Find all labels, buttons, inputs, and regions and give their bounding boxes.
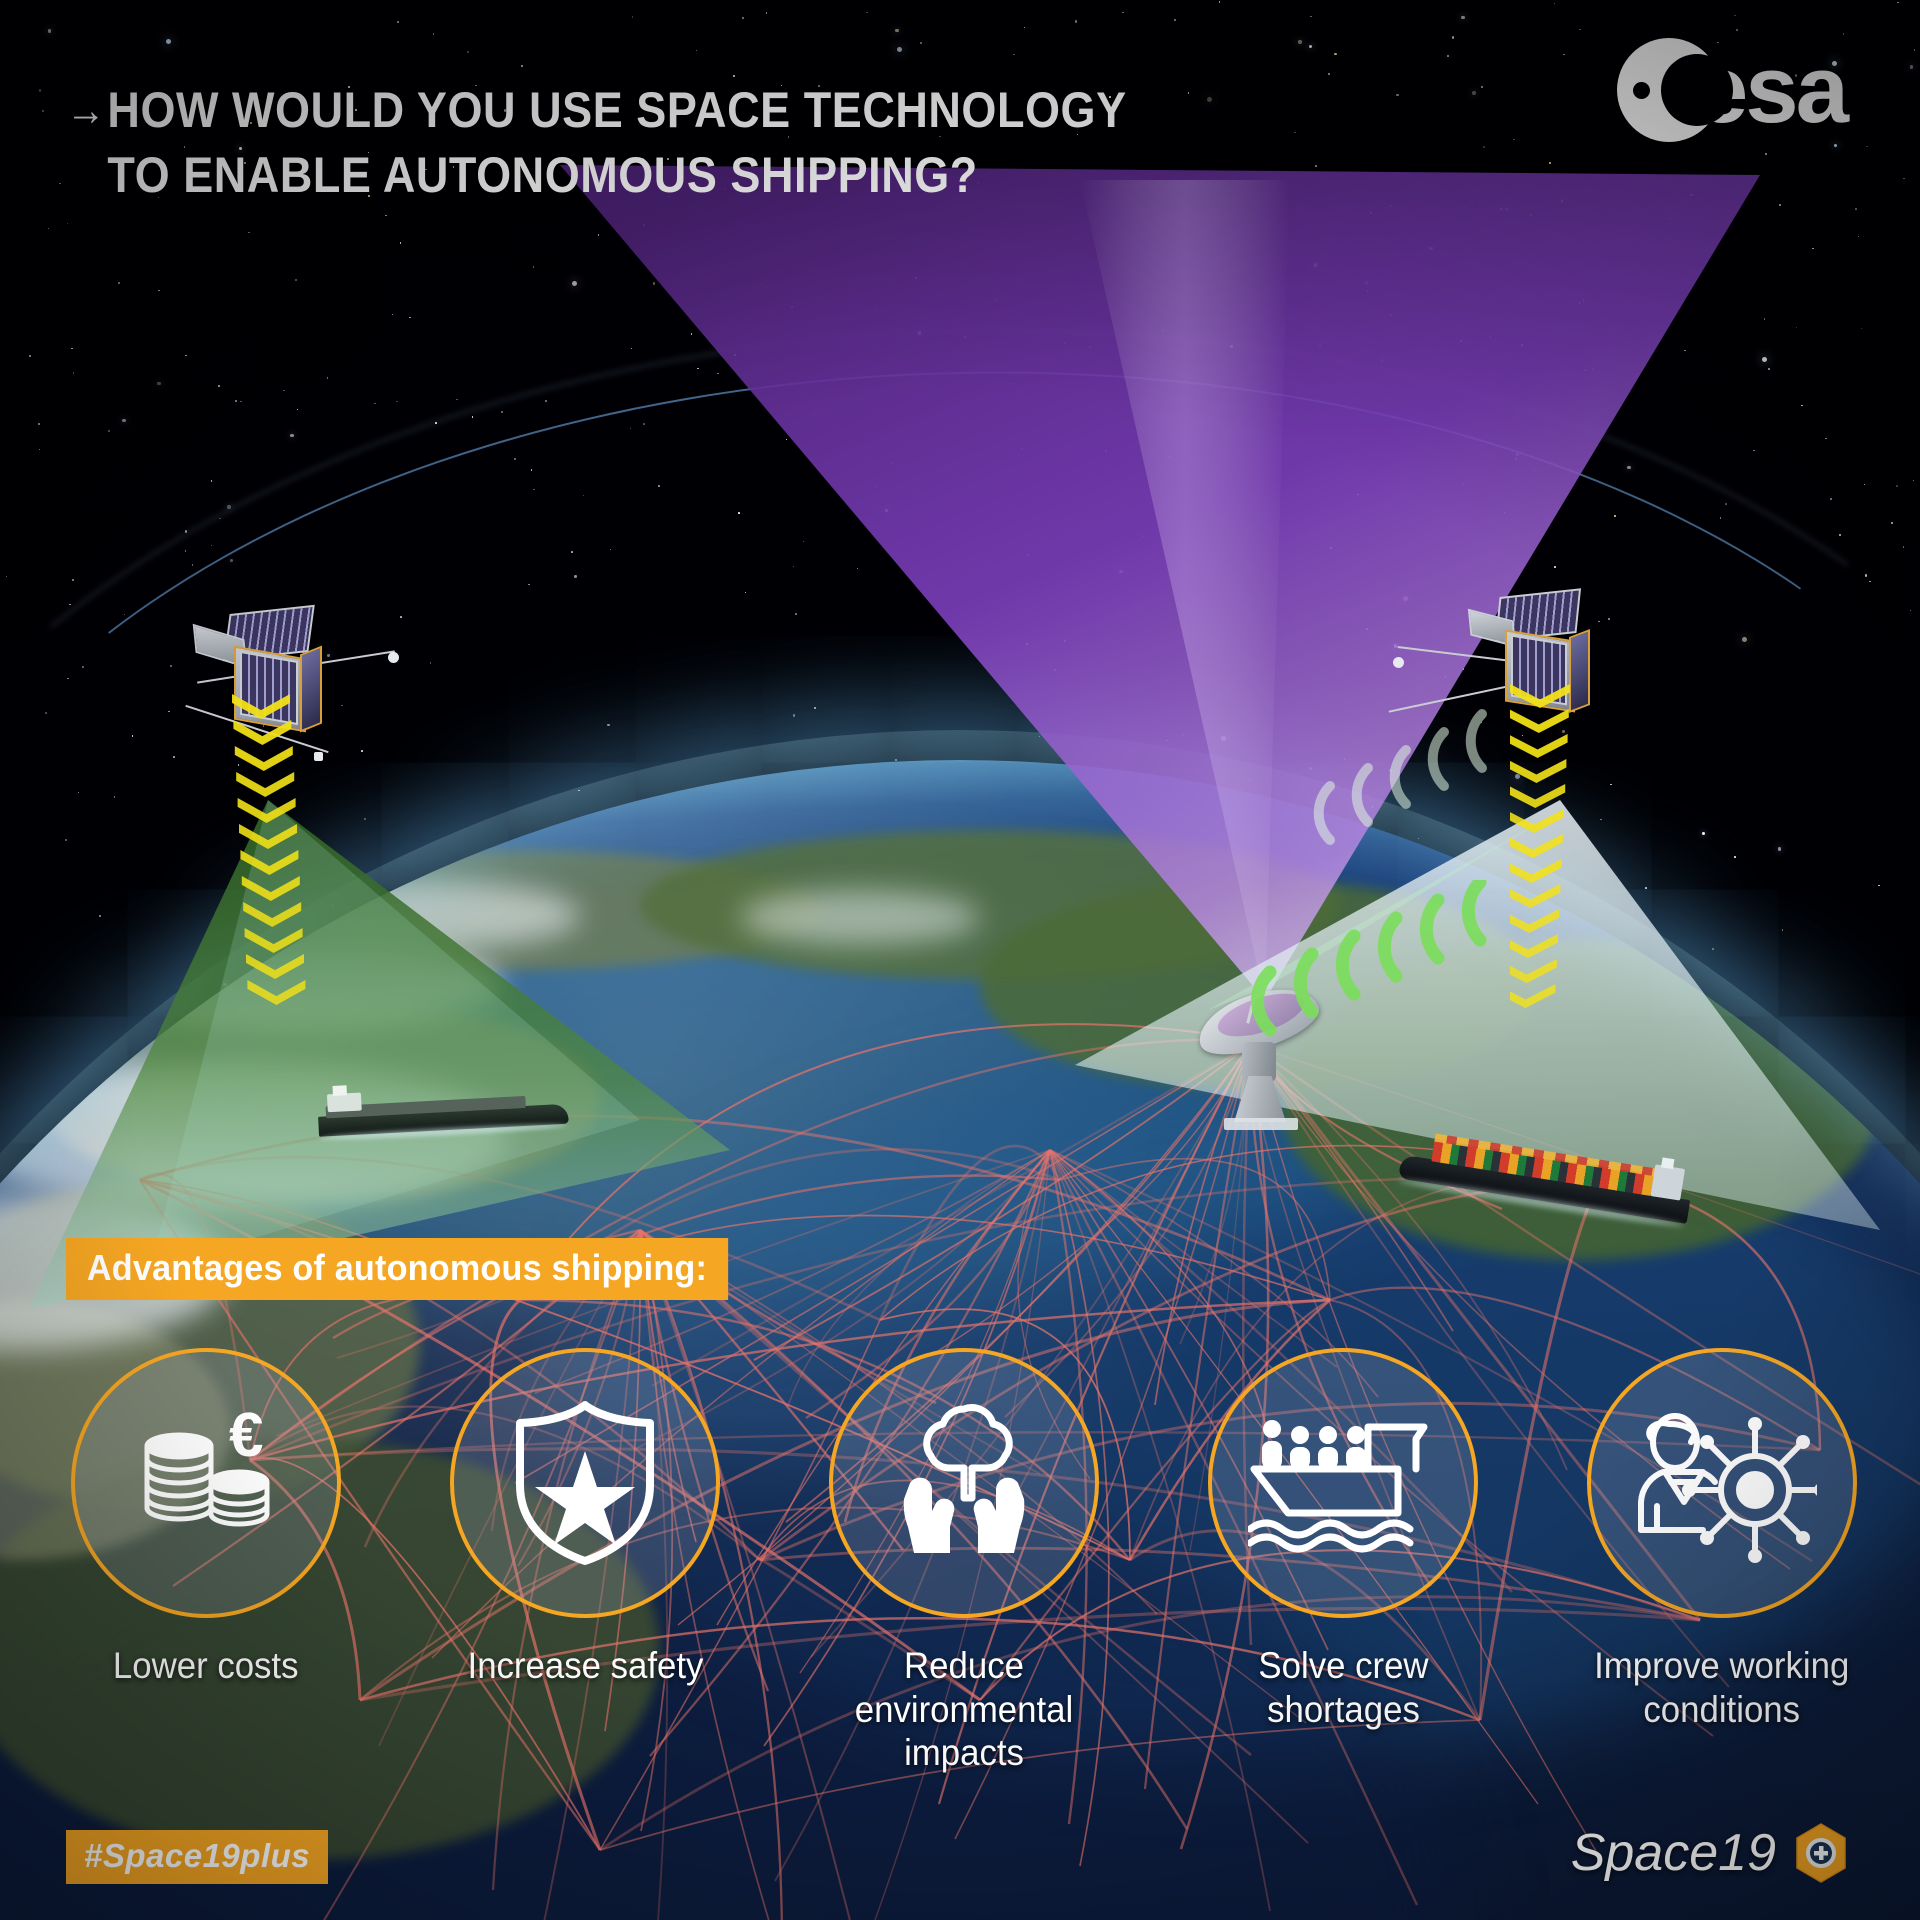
ship-with-crew-icon	[1248, 1403, 1438, 1563]
infographic-canvas: →How would you use space technology to e…	[0, 0, 1920, 1920]
sailor-ship-wheel-icon	[1627, 1398, 1817, 1568]
satellite-icon	[1475, 585, 1685, 775]
space19-hex-plus-icon	[1790, 1822, 1852, 1884]
tree-in-hands-icon	[876, 1395, 1052, 1571]
coins-euro-icon: €	[121, 1398, 291, 1568]
arrow-icon: →	[66, 82, 107, 139]
advantage-icon-circle	[829, 1348, 1099, 1618]
advantage-label: Improve working conditions	[1594, 1644, 1849, 1731]
title-line-2: to enable autonomous shipping?	[107, 147, 977, 203]
advantage-item-lower-costs[interactable]: € Lower costs	[56, 1348, 356, 1688]
advantage-label: Reduce environmental impacts	[823, 1644, 1105, 1775]
esa-logo: esa	[1617, 38, 1846, 142]
advantage-icon-circle: €	[71, 1348, 341, 1618]
advantage-label: Increase safety	[467, 1644, 703, 1688]
satellite-icon	[190, 600, 400, 790]
advantage-icon-circle	[450, 1348, 720, 1618]
advantage-label: Solve crew shortages	[1258, 1644, 1428, 1731]
advantage-item-reduce-environmental-impacts[interactable]: Reduce environmental impacts	[814, 1348, 1114, 1775]
page-title: →How would you use space technology to e…	[66, 78, 1146, 208]
satellite-dish-icon	[1190, 990, 1340, 1140]
space19-logo: Space19	[1571, 1822, 1852, 1884]
hashtag-badge: #Space19plus	[66, 1830, 328, 1884]
advantage-label: Lower costs	[113, 1644, 299, 1688]
advantage-icon-circle	[1208, 1348, 1478, 1618]
advantage-item-increase-safety[interactable]: Increase safety	[435, 1348, 735, 1688]
esa-mark-icon	[1617, 38, 1721, 142]
shield-star-icon	[510, 1399, 660, 1567]
title-line-1: How would you use space technology	[107, 82, 1126, 138]
advantage-item-improve-working-conditions[interactable]: Improve working conditions	[1572, 1348, 1872, 1731]
space19-logo-text: Space19	[1571, 1823, 1776, 1883]
svg-text:€: €	[229, 1401, 263, 1470]
advantages-banner: Advantages of autonomous shipping:	[66, 1238, 728, 1300]
advantage-item-solve-crew-shortages[interactable]: Solve crew shortages	[1193, 1348, 1493, 1731]
advantages-list: € Lower costs	[56, 1348, 1872, 1775]
advantage-icon-circle	[1587, 1348, 1857, 1618]
